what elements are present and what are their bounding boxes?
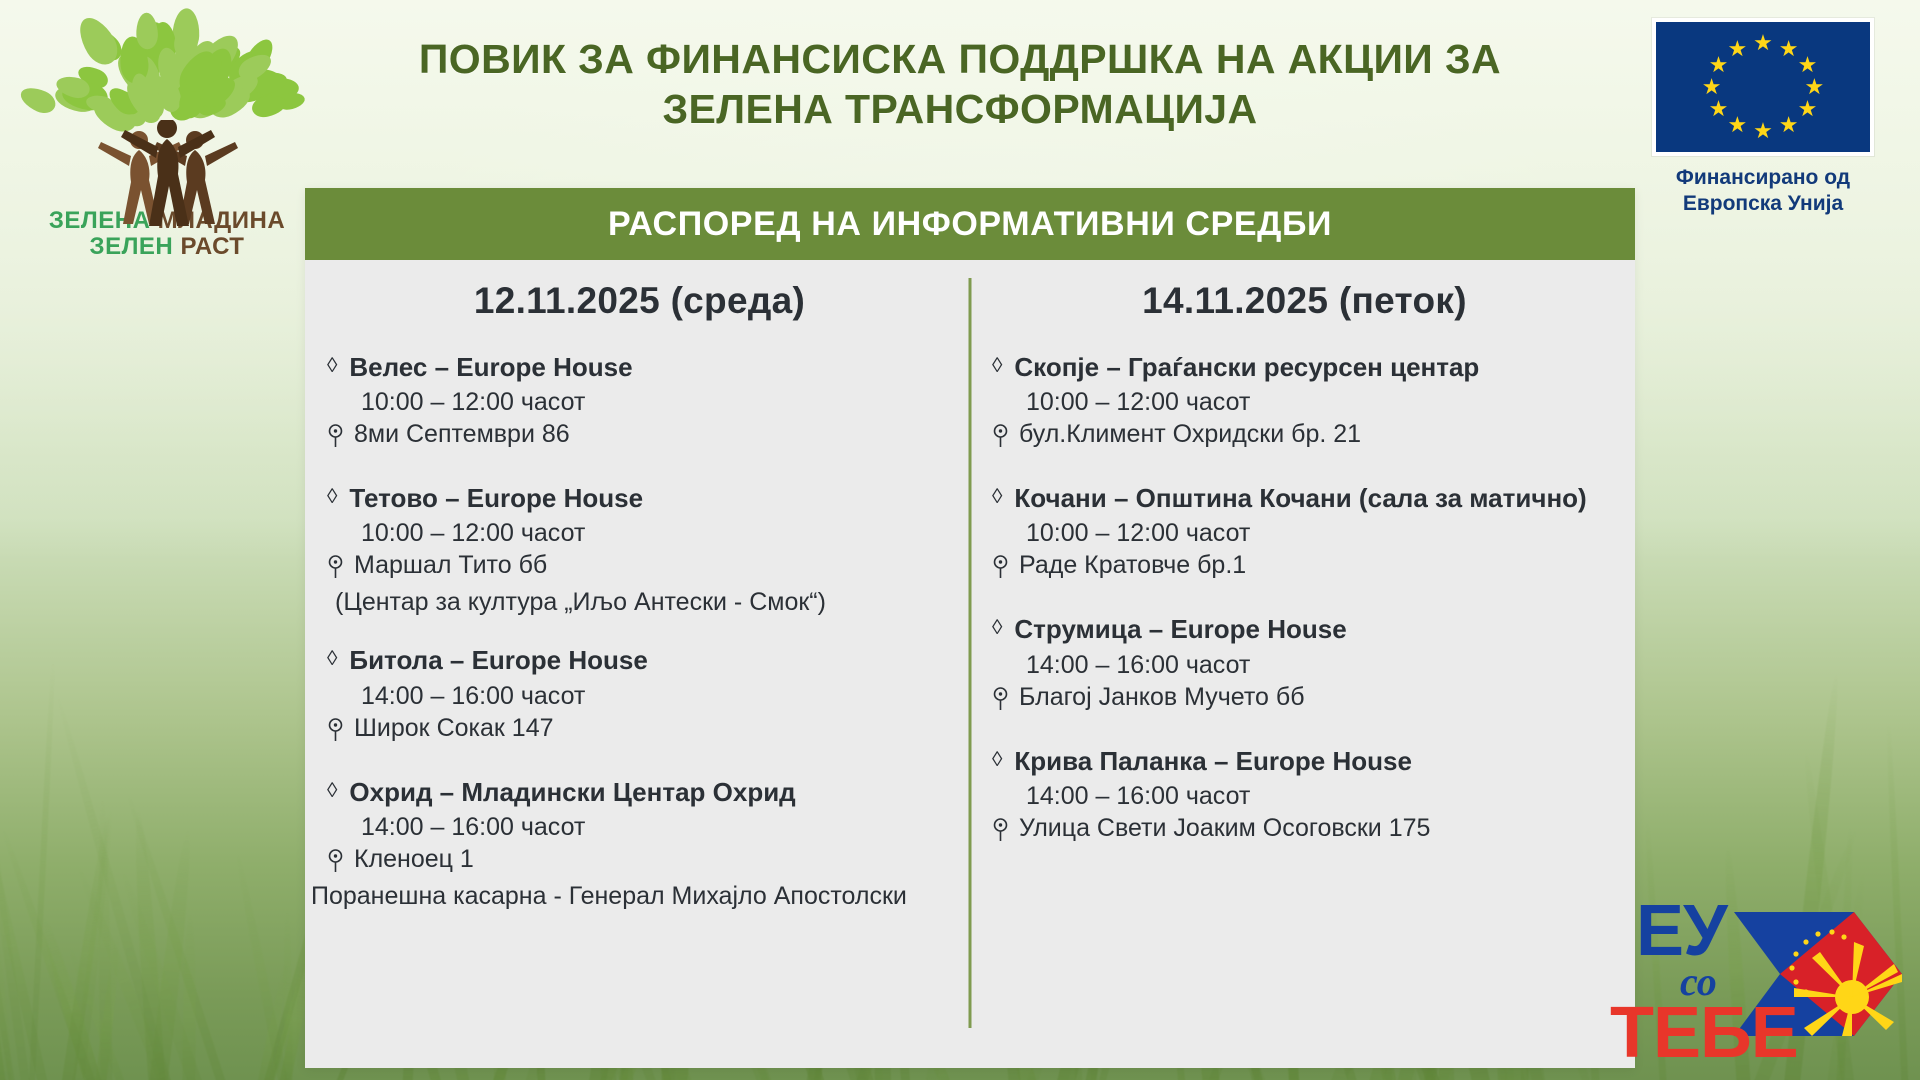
page-title: ПОВИК ЗА ФИНАНСИСКА ПОДДРШКА НА АКЦИИ ЗА…	[300, 34, 1620, 134]
grass-blade	[0, 768, 21, 1080]
grass-blade	[56, 814, 114, 1080]
diamond-bullet-icon: ◊	[327, 352, 337, 380]
schedule-entry-title-row: ◊Охрид – Младински Центар Охрид	[327, 777, 952, 808]
schedule-entry-title-row: ◊Тетово – Europe House	[327, 483, 952, 514]
page-title-line2: ЗЕЛЕНА ТРАНСФОРМАЦИЈА	[300, 84, 1620, 134]
grass-blade	[283, 910, 293, 1080]
schedule-entry-address-row: бул.Климент Охридски бр. 21	[992, 420, 1617, 455]
location-pin-icon	[327, 555, 344, 586]
schedule-columns: 12.11.2025 (среда)◊Велес – Europe House1…	[305, 260, 1635, 1068]
grass-blade	[66, 946, 139, 1080]
schedule-entry-location: Кочани – Општина Кочани (сала за матично…	[1014, 483, 1586, 514]
eu-funding-caption-line2: Европска Унија	[1652, 191, 1874, 217]
diamond-bullet-icon: ◊	[327, 645, 337, 673]
schedule-entry-location: Скопје – Граѓански ресурсен центар	[1014, 352, 1479, 383]
schedule-date-heading: 12.11.2025 (среда)	[327, 280, 952, 322]
schedule-entry[interactable]: ◊Велес – Europe House10:00 – 12:00 часот…	[327, 352, 952, 455]
schedule-entry-address: Маршал Тито бб	[354, 551, 547, 580]
tree-logo-icon	[32, 8, 302, 208]
schedule-entry-title-row: ◊Крива Паланка – Europe House	[992, 746, 1617, 777]
grass-blade	[182, 912, 197, 1080]
schedule-column-1: 12.11.2025 (среда)◊Велес – Europe House1…	[305, 260, 970, 1068]
schedule-entry-title-row: ◊Велес – Europe House	[327, 352, 952, 383]
schedule-entry-time: 10:00 – 12:00 часот	[1026, 519, 1617, 548]
schedule-entry-title-row: ◊Кочани – Општина Кочани (сала за матичн…	[992, 483, 1617, 514]
schedule-entry-note: Поранешна касарна - Генерал Михајло Апос…	[311, 882, 952, 911]
schedule-entry[interactable]: ◊Охрид – Младински Центар Охрид14:00 – 1…	[327, 777, 952, 911]
schedule-entry-title-row: ◊Скопје – Граѓански ресурсен центар	[992, 352, 1617, 383]
location-pin-icon	[992, 424, 1009, 455]
schedule-entry-address-row: Улица Свети Јоаким Осоговски 175	[992, 814, 1617, 849]
schedule-entry-location: Тетово – Europe House	[349, 483, 643, 514]
schedule-entry-address: Благој Јанков Мучето бб	[1019, 683, 1305, 712]
grass-blade	[0, 751, 35, 1080]
location-pin-icon	[327, 718, 344, 749]
schedule-entry-location: Струмица – Europe House	[1014, 614, 1346, 645]
schedule-entry[interactable]: ◊Тетово – Europe House10:00 – 12:00 часо…	[327, 483, 952, 617]
schedule-entry-address: Широк Сокак 147	[354, 714, 554, 743]
grass-blade	[0, 800, 56, 1080]
schedule-entry[interactable]: ◊Крива Паланка – Europe House14:00 – 16:…	[992, 746, 1617, 849]
logo-text-line2: ЗЕЛЕН РАСТ	[22, 234, 312, 261]
schedule-entry-note: (Центар за култура „Иљо Антески - Смок“)	[335, 588, 952, 617]
eu-with-you-tebe-text: ТЕБЕ	[1610, 992, 1798, 1074]
schedule-entry-location: Велес – Europe House	[349, 352, 632, 383]
logo-word-zelen: ЗЕЛЕН	[90, 233, 174, 260]
three-people-trunk-icon	[87, 120, 247, 230]
schedule-entry-address-row: Широк Сокак 147	[327, 714, 952, 749]
location-pin-icon	[992, 818, 1009, 849]
tree-leaf-icon	[17, 83, 59, 118]
grass-blade	[68, 807, 116, 1080]
schedule-entry[interactable]: ◊Кочани – Општина Кочани (сала за матичн…	[992, 483, 1617, 586]
grass-blade	[123, 792, 237, 1080]
grass-blade	[130, 808, 168, 1080]
grass-blade	[52, 692, 182, 1080]
grass-blade	[27, 661, 57, 1080]
eu-funding-badge: ★★★★★★★★★★★★ Финансирано од Европска Уни…	[1652, 18, 1874, 216]
schedule-entry-address-row: Благој Јанков Мучето бб	[992, 683, 1617, 718]
page-title-line1: ПОВИК ЗА ФИНАНСИСКА ПОДДРШКА НА АКЦИИ ЗА	[300, 34, 1620, 84]
grass-blade	[96, 798, 112, 1080]
schedule-entry-address: 8ми Септември 86	[354, 420, 570, 449]
location-pin-icon	[992, 687, 1009, 718]
schedule-entry-address-row: Кленоец 1	[327, 845, 952, 880]
grass-blade	[35, 914, 113, 1080]
schedule-entry-address-row: 8ми Септември 86	[327, 420, 952, 455]
schedule-panel-header: РАСПОРЕД НА ИНФОРМАТИВНИ СРЕДБИ	[305, 188, 1635, 260]
tree-leaf-icon	[136, 13, 159, 50]
schedule-entry-time: 10:00 – 12:00 часот	[1026, 388, 1617, 417]
schedule-column-2: 14.11.2025 (петок)◊Скопје – Граѓански ре…	[970, 260, 1635, 1068]
schedule-entry-address-row: Раде Кратовче бр.1	[992, 551, 1617, 586]
grass-blade	[72, 863, 185, 1080]
schedule-entry[interactable]: ◊Битола – Europe House14:00 – 16:00 часо…	[327, 645, 952, 748]
eu-with-you-logo: ЕУ со ТЕБЕ	[1628, 888, 1898, 1066]
eu-funding-caption-line1: Финансирано од	[1652, 165, 1874, 191]
schedule-entry-address: Кленоец 1	[354, 845, 474, 874]
location-pin-icon	[992, 555, 1009, 586]
schedule-entry-time: 14:00 – 16:00 часот	[1026, 782, 1617, 811]
schedule-entry-time: 10:00 – 12:00 часот	[361, 519, 952, 548]
schedule-entry-time: 14:00 – 16:00 часот	[361, 813, 952, 842]
eu-funding-caption: Финансирано од Европска Унија	[1652, 165, 1874, 216]
diamond-bullet-icon: ◊	[992, 483, 1002, 511]
schedule-entry-time: 14:00 – 16:00 часот	[361, 682, 952, 711]
grass-blade	[232, 851, 296, 1080]
diamond-bullet-icon: ◊	[992, 352, 1002, 380]
schedule-entry-address: Улица Свети Јоаким Осоговски 175	[1019, 814, 1430, 843]
grass-blade	[250, 958, 292, 1080]
schedule-entry-address-row: Маршал Тито бб	[327, 551, 952, 586]
schedule-entry[interactable]: ◊Струмица – Europe House14:00 – 16:00 ча…	[992, 614, 1617, 717]
grass-blade	[117, 870, 215, 1080]
grass-blade	[0, 876, 11, 1080]
diamond-bullet-icon: ◊	[327, 777, 337, 805]
schedule-entry[interactable]: ◊Скопје – Граѓански ресурсен центар10:00…	[992, 352, 1617, 455]
schedule-panel: РАСПОРЕД НА ИНФОРМАТИВНИ СРЕДБИ 12.11.20…	[305, 188, 1635, 1068]
european-union-flag-icon: ★★★★★★★★★★★★	[1652, 18, 1874, 156]
grass-blade	[0, 827, 109, 1080]
location-pin-icon	[327, 424, 344, 455]
schedule-date-heading: 14.11.2025 (петок)	[992, 280, 1617, 322]
logo-word-rast: РАСТ	[180, 233, 244, 260]
organization-logo: ЗЕЛЕНА МЛАДИНА ЗЕЛЕН РАСТ	[22, 8, 312, 261]
grass-blade	[92, 934, 124, 1080]
schedule-entry-location: Битола – Europe House	[349, 645, 647, 676]
grass-blade	[0, 911, 15, 1080]
schedule-entry-location: Крива Паланка – Europe House	[1014, 746, 1412, 777]
schedule-entry-title-row: ◊Битола – Europe House	[327, 645, 952, 676]
diamond-bullet-icon: ◊	[992, 614, 1002, 642]
schedule-entry-location: Охрид – Младински Центар Охрид	[349, 777, 795, 808]
schedule-entry-time: 14:00 – 16:00 часот	[1026, 651, 1617, 680]
diamond-bullet-icon: ◊	[992, 746, 1002, 774]
schedule-entry-address: Раде Кратовче бр.1	[1019, 551, 1246, 580]
schedule-entry-title-row: ◊Струмица – Europe House	[992, 614, 1617, 645]
location-pin-icon	[327, 849, 344, 880]
grass-blade	[145, 829, 197, 1080]
schedule-entry-address: бул.Климент Охридски бр. 21	[1019, 420, 1361, 449]
schedule-entry-time: 10:00 – 12:00 часот	[361, 388, 952, 417]
diamond-bullet-icon: ◊	[327, 483, 337, 511]
